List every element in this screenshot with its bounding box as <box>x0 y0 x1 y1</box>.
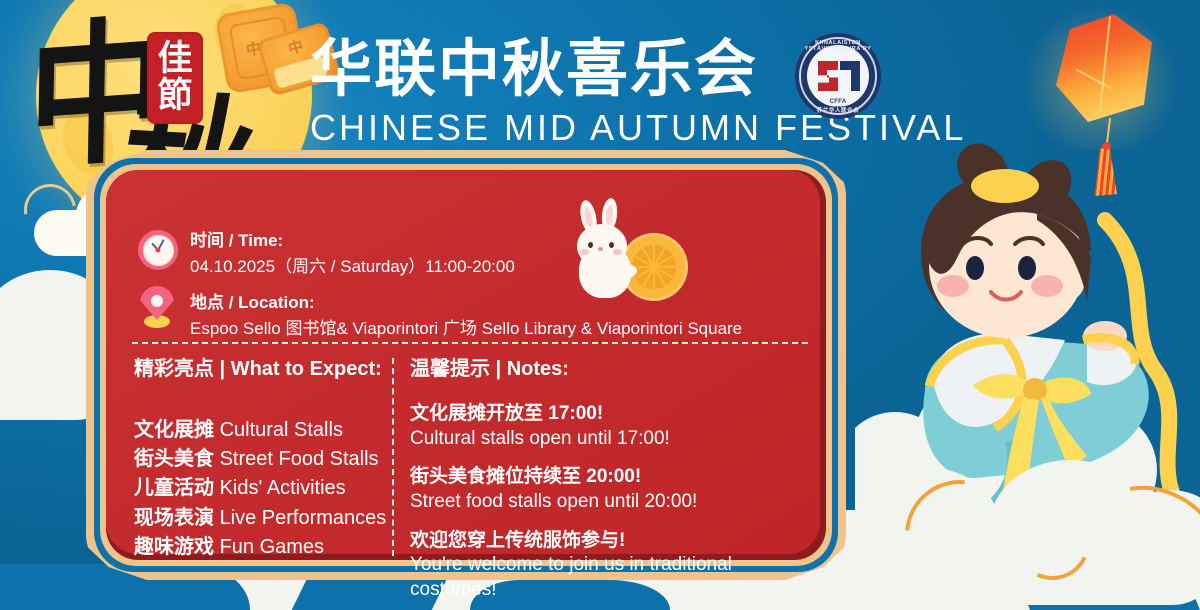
what-to-expect-list: 文化展摊 Cultural Stalls 街头美食 Street Food St… <box>134 416 392 562</box>
info-panel: 时间 / Time: 04.10.2025（周六 / Saturday）11:0… <box>86 150 846 580</box>
logo-arc-top-text: KIINALAISTEN YSTÄVYYSSEURA RY <box>795 40 881 52</box>
red-seal-stamp: 佳 節 <box>147 32 203 124</box>
list-item-cn: 趣味游戏 <box>134 536 214 558</box>
list-item: 现场表演 Live Performances <box>134 504 392 533</box>
note-en: Street food stalls open until 20:00! <box>410 490 810 515</box>
list-item-cn: 文化展摊 <box>134 419 214 441</box>
cloud-bottom-right <box>800 460 1200 600</box>
location-value: Espoo Sello 图书馆& Viaporintori 广场 Sello L… <box>190 316 742 342</box>
rabbit-cheek <box>613 249 622 255</box>
location-pin-icon <box>140 286 176 332</box>
note-en: Cultural stalls open until 17:00! <box>410 427 810 452</box>
list-item: 街头美食 Street Food Stalls <box>134 445 392 474</box>
rabbit-eye <box>588 242 593 248</box>
list-item: 文化展摊 Cultural Stalls <box>134 416 392 445</box>
horizontal-divider <box>132 342 808 344</box>
list-item: 儿童活动 Kids' Activities <box>134 474 392 503</box>
rabbit-nose <box>598 247 603 251</box>
what-to-expect-column: 精彩亮点 | What to Expect: 文化展摊 Cultural Sta… <box>134 356 392 562</box>
logo-mark <box>816 57 860 95</box>
logo-mark-navy <box>840 61 860 91</box>
note-item: 街头美食摊位持续至 20:00! Street food stalls open… <box>410 465 810 514</box>
note-en: You're welcome to join us in traditional… <box>410 553 810 602</box>
organization-logo: KIINALAISTEN YSTÄVYYSSEURA RY CFFA 1992 … <box>795 33 881 119</box>
clock-center-pin <box>156 248 161 253</box>
vertical-divider <box>392 358 394 556</box>
pin-dot <box>151 295 163 307</box>
note-cn: 街头美食摊位持续至 20:00! <box>410 465 810 490</box>
seal-char-2: 節 <box>157 78 192 115</box>
rabbit-arm <box>615 264 637 278</box>
notes-list: 文化展摊开放至 17:00! Cultural stalls open unti… <box>410 402 810 603</box>
list-item-en: Street Food Stalls <box>220 448 379 470</box>
list-item: 趣味游戏 Fun Games <box>134 533 392 562</box>
rabbit-cheek <box>580 249 589 255</box>
rabbit-head <box>577 224 627 268</box>
note-item: 文化展摊开放至 17:00! Cultural stalls open unti… <box>410 402 810 451</box>
note-cn: 欢迎您穿上传统服饰参与! <box>410 529 810 554</box>
mooncake-center <box>649 262 659 272</box>
logo-arc-bottom-text: 芬兰华人联合会 <box>795 106 881 114</box>
notes-column: 温馨提示 | Notes: 文化展摊开放至 17:00! Cultural st… <box>410 356 810 610</box>
festival-poster: 中 秋 佳 節 中秋 中 华联中秋喜乐会 CHINESE MID AUTUMN … <box>0 0 1200 610</box>
logo-abbrev: CFFA <box>795 99 881 105</box>
note-item: 欢迎您穿上传统服饰参与! You're welcome to join us i… <box>410 529 810 603</box>
notes-heading: 温馨提示 | Notes: <box>410 356 810 382</box>
clock-icon <box>138 230 178 270</box>
logo-mark-red <box>818 61 838 91</box>
list-item-cn: 儿童活动 <box>134 477 214 499</box>
list-item-en: Kids' Activities <box>220 477 346 499</box>
jade-rabbit-icon <box>571 212 691 304</box>
what-to-expect-heading: 精彩亮点 | What to Expect: <box>134 356 392 382</box>
list-item-en: Live Performances <box>220 507 387 529</box>
note-cn: 文化展摊开放至 17:00! <box>410 402 810 427</box>
clock-face <box>143 235 174 266</box>
list-item-en: Cultural Stalls <box>220 419 343 441</box>
list-item-cn: 现场表演 <box>134 507 214 529</box>
list-item-cn: 街头美食 <box>134 448 214 470</box>
panel-content: 时间 / Time: 04.10.2025（周六 / Saturday）11:0… <box>86 150 846 580</box>
rabbit-eye <box>609 242 614 248</box>
seal-char-1: 佳 <box>157 41 192 78</box>
list-item-en: Fun Games <box>220 536 324 558</box>
